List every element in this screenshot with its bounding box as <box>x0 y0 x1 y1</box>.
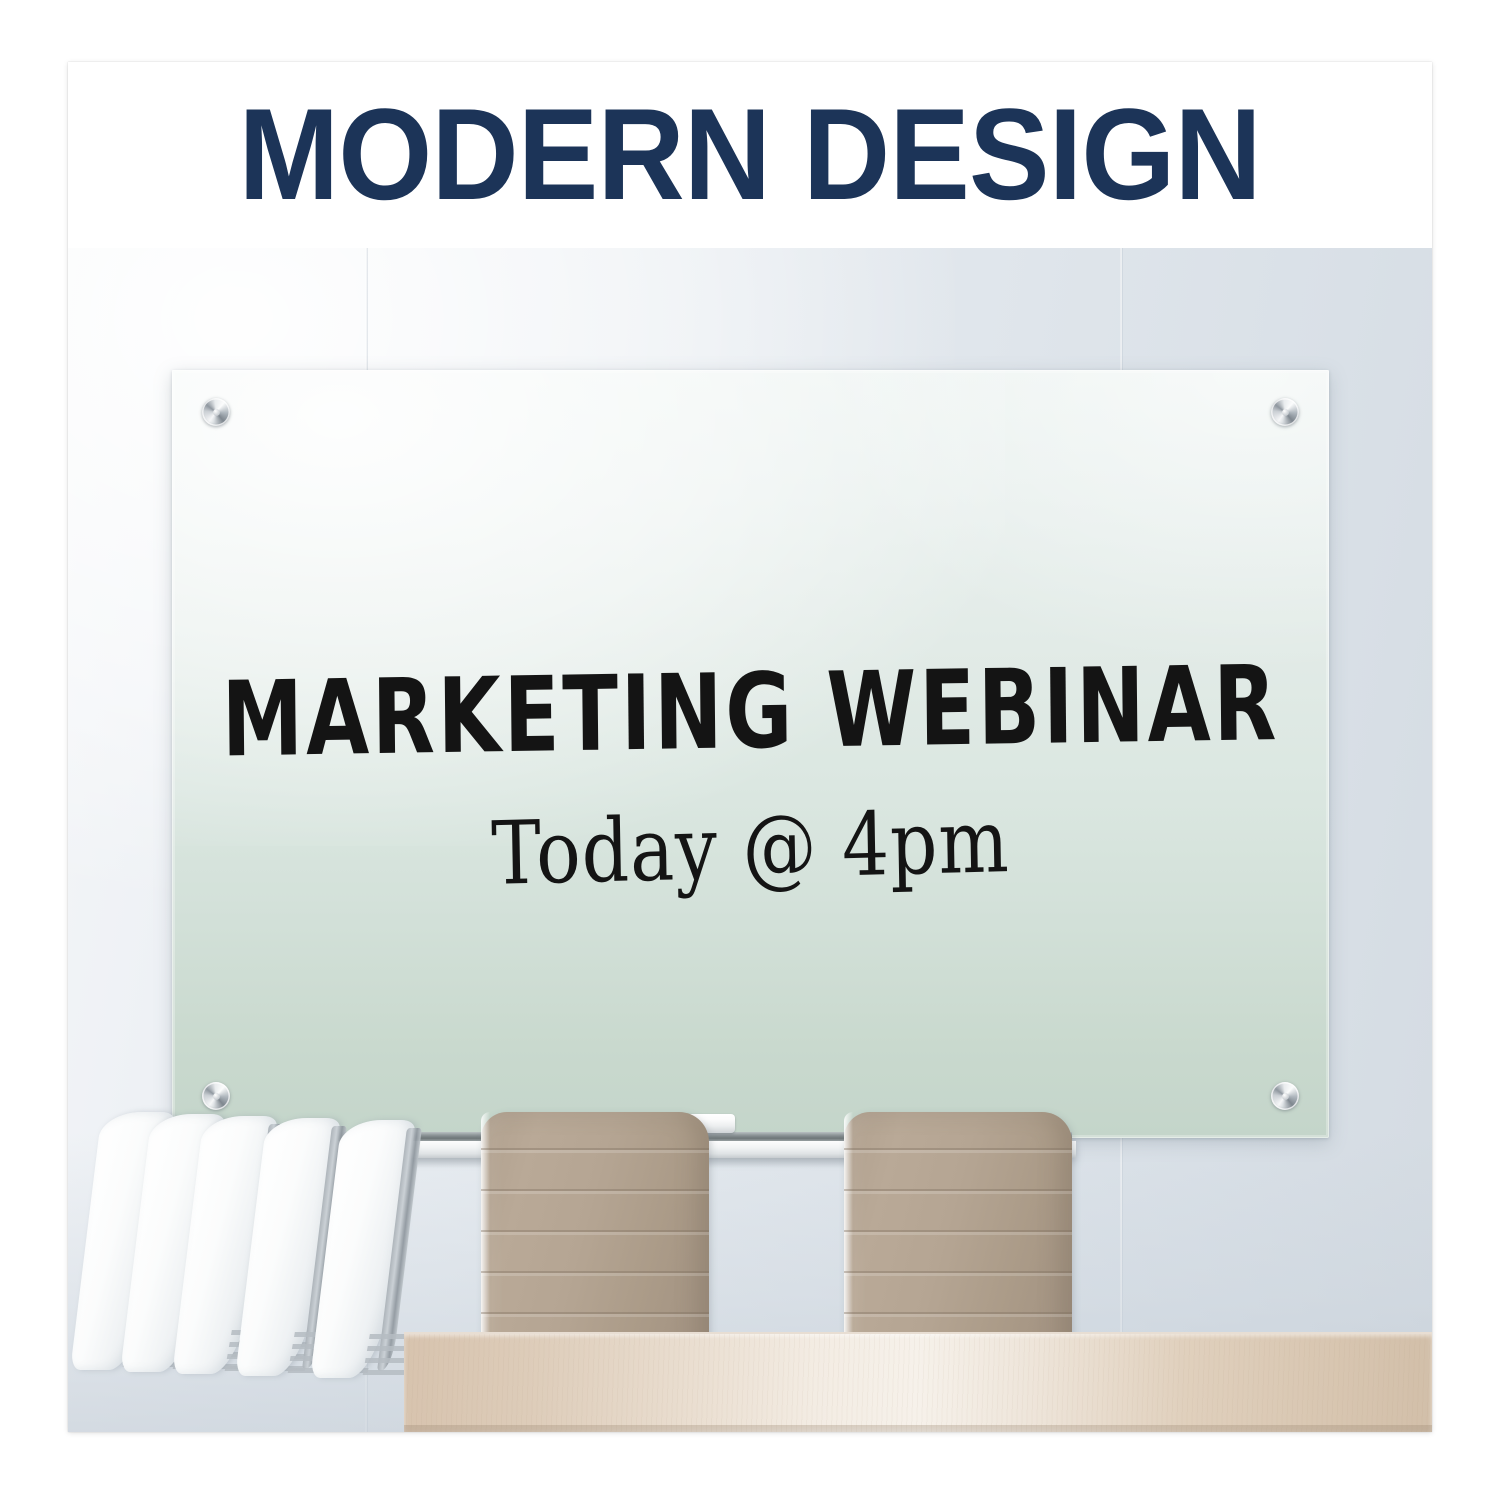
glass-whiteboard[interactable]: MARKETING WEBINAR Today @ 4pm <box>172 370 1329 1138</box>
screw-cap-icon-bottom-left <box>202 1082 230 1110</box>
conference-room-photo: MARKETING WEBINAR Today @ 4pm Quartet <box>68 248 1432 1432</box>
glass-reflection-secondary <box>808 370 1329 677</box>
screw-cap-icon-bottom-right <box>1271 1082 1299 1110</box>
glass-reflection-highlight <box>172 370 1005 846</box>
handwriting-line-1: MARKETING WEBINAR <box>195 652 1307 773</box>
screw-cap-icon-top-left <box>202 398 230 426</box>
whiteboard-handwriting: MARKETING WEBINAR Today @ 4pm <box>172 670 1329 885</box>
product-image-card: MODERN DESIGN MARKETING WEBINAR Today @ … <box>68 62 1432 1432</box>
conference-table <box>404 1332 1432 1432</box>
conference-table-edge <box>404 1425 1432 1432</box>
screw-cap-icon-top-right <box>1271 398 1299 426</box>
page-title: MODERN DESIGN <box>239 93 1261 217</box>
glass-edge-highlight <box>172 370 1329 1138</box>
handwriting-line-2: Today @ 4pm <box>171 790 1329 906</box>
headline-banner: MODERN DESIGN <box>68 62 1432 248</box>
